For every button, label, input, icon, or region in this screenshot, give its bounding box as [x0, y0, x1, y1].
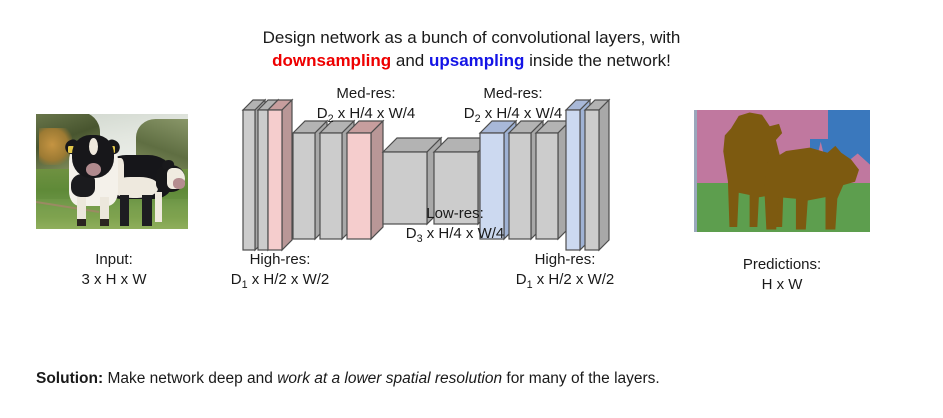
label-high-res-left-dims: D1 x H/2 x W/2 [185, 270, 375, 292]
label-predictions: Predictions: H x W [700, 255, 864, 295]
block-front-face [293, 133, 315, 239]
label-low-res-dims: D3 x H/4 x W/4 [364, 224, 546, 246]
solution-text: Solution: Make network deep and work at … [36, 370, 660, 388]
photo-cow-front-hoof-left [77, 219, 86, 226]
label-high-res-right-title: High-res: [470, 250, 660, 270]
label-low-res: Low-res: D3 x H/4 x W/4 [364, 204, 546, 247]
slide-title: Design network as a bunch of convolution… [0, 26, 943, 73]
label-input-dims: 3 x H x W [52, 270, 176, 290]
block-side-face [342, 121, 354, 239]
prediction-segmentation-map [694, 110, 870, 232]
diagram-block-high-res-gray-2 [258, 100, 278, 250]
dim-rest: x H/4 x W/4 [481, 105, 563, 122]
solution-label: Solution: [36, 370, 103, 387]
title-line-2-end: inside the network! [524, 51, 670, 70]
label-input-title: Input: [52, 250, 176, 270]
dim-prefix: D [516, 271, 527, 288]
dim-prefix: D [317, 105, 328, 122]
input-image-cows-photo [36, 114, 188, 229]
label-high-res-left: High-res: D1 x H/2 x W/2 [185, 250, 375, 293]
upsampling-keyword: upsampling [429, 51, 524, 70]
diagram-block-high-res-gray-1 [243, 100, 265, 250]
downsampling-keyword: downsampling [272, 51, 391, 70]
block-front-face [243, 110, 255, 250]
dim-rest: x H/2 x W/2 [248, 271, 330, 288]
segmap-tree-region-bump [800, 110, 828, 139]
photo-cow-right-leg-a [120, 195, 129, 226]
title-connector: and [391, 51, 429, 70]
solution-text-after: for many of the layers. [502, 370, 660, 387]
block-front-face [566, 110, 580, 250]
block-top-face [383, 138, 441, 152]
dim-prefix: D [406, 225, 417, 242]
dim-prefix: D [231, 271, 242, 288]
label-predictions-title: Predictions: [700, 255, 864, 275]
dim-rest: x H/4 x W/4 [334, 105, 416, 122]
label-low-res-title: Low-res: [364, 204, 546, 224]
photo-cow-right-leg-c [155, 192, 163, 222]
title-line-1: Design network as a bunch of convolution… [0, 26, 943, 49]
label-input: Input: 3 x H x W [52, 250, 176, 290]
block-front-face [268, 110, 282, 250]
dim-rest: x H/4 x W/4 [423, 225, 505, 242]
label-high-res-right: High-res: D1 x H/2 x W/2 [470, 250, 660, 293]
solution-text-before: Make network deep and [103, 370, 277, 387]
photo-cow-front-hoof-right [100, 219, 109, 226]
label-med-res-right-dims: D2 x H/4 x W/4 [425, 104, 601, 126]
label-predictions-dims: H x W [700, 275, 864, 295]
block-top-face [258, 100, 278, 110]
block-front-face [585, 110, 599, 250]
label-high-res-right-dims: D1 x H/2 x W/2 [470, 270, 660, 292]
photo-cow-right-muzzle [173, 178, 185, 188]
label-med-res-right-title: Med-res: [425, 84, 601, 104]
block-front-face [320, 133, 342, 239]
block-top-face [243, 100, 265, 110]
diagram-block-med-res-gray-2 [320, 121, 354, 239]
solution-emphasis: work at a lower spatial resolution [277, 370, 502, 387]
block-top-face [434, 138, 492, 152]
diagram-block-med-res-gray-1 [293, 121, 327, 239]
photo-cow-right-leg-b [142, 195, 151, 226]
label-high-res-left-title: High-res: [185, 250, 375, 270]
segmap-left-edge [694, 110, 697, 232]
block-side-face [255, 100, 265, 250]
block-side-face [268, 100, 278, 250]
dim-rest: x H/2 x W/2 [533, 271, 615, 288]
label-med-res-right: Med-res: D2 x H/4 x W/4 [425, 84, 601, 127]
block-side-face [558, 121, 570, 239]
block-front-face [258, 110, 268, 250]
title-line-2: downsampling and upsampling inside the n… [0, 49, 943, 72]
dim-prefix: D [464, 105, 475, 122]
block-side-face [315, 121, 327, 239]
